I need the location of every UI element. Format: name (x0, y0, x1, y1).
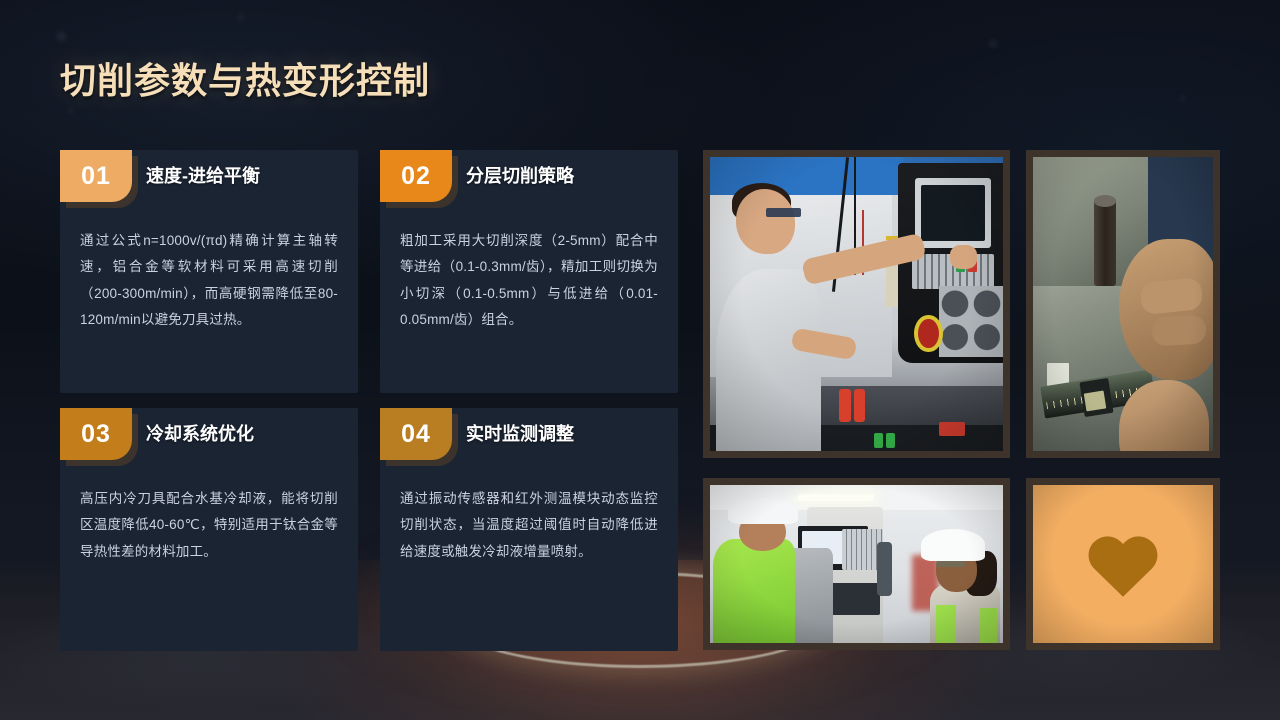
bokeh-particle (238, 14, 244, 20)
card-number-badge: 04 (380, 408, 452, 460)
card-title: 实时监测调整 (466, 420, 574, 446)
feature-card[interactable]: 02 分层切削策略 粗加工采用大切削深度（2-5mm）配合中等进给（0.1-0.… (380, 150, 678, 393)
card-badge-wrap: 03 冷却系统优化 (60, 408, 358, 460)
photo-frame[interactable] (703, 150, 1010, 458)
card-body-text: 通过振动传感器和红外测温模块动态监控切削状态，当温度超过阈值时自动降低进给速度或… (380, 460, 678, 565)
bokeh-particle (990, 40, 997, 47)
card-number-badge: 02 (380, 150, 452, 202)
bokeh-particle (68, 108, 73, 113)
feature-card[interactable]: 03 冷却系统优化 高压内冷刀具配合水基冷却液，能将切削区温度降低40-60℃，… (60, 408, 358, 651)
image-placeholder-heart (1033, 485, 1213, 643)
card-body-text: 高压内冷刀具配合水基冷却液，能将切削区温度降低40-60℃，特别适用于钛合金等导… (60, 460, 358, 565)
bokeh-particle (57, 32, 66, 41)
two-workers-cnc-machine-photo (710, 485, 1003, 643)
page-title: 切削参数与热变形控制 (60, 52, 430, 104)
card-body-text: 粗加工采用大切削深度（2-5mm）配合中等进给（0.1-0.3mm/齿），精加工… (380, 202, 678, 333)
feature-card-grid: 01 速度-进给平衡 通过公式n=1000v/(πd)精确计算主轴转速，铝合金等… (60, 150, 672, 650)
card-number-badge: 01 (60, 150, 132, 202)
feature-card[interactable]: 04 实时监测调整 通过振动传感器和红外测温模块动态监控切削状态，当温度超过阈值… (380, 408, 678, 651)
card-number-badge: 03 (60, 408, 132, 460)
cnc-operator-control-panel-photo (710, 157, 1003, 451)
card-title: 速度-进给平衡 (146, 162, 260, 188)
card-badge-wrap: 02 分层切削策略 (380, 150, 678, 202)
card-body-text: 通过公式n=1000v/(πd)精确计算主轴转速，铝合金等软材料可采用高速切削（… (60, 202, 358, 333)
photo-frame[interactable] (1026, 478, 1220, 650)
digital-caliper-measurement-photo (1033, 157, 1213, 451)
card-badge-wrap: 01 速度-进给平衡 (60, 150, 358, 202)
photo-frame[interactable] (703, 478, 1010, 650)
bokeh-particle (1180, 96, 1185, 101)
feature-card[interactable]: 01 速度-进给平衡 通过公式n=1000v/(πd)精确计算主轴转速，铝合金等… (60, 150, 358, 393)
heart-icon (1084, 529, 1162, 599)
card-title: 分层切削策略 (466, 162, 574, 188)
photo-frame[interactable] (1026, 150, 1220, 458)
card-badge-wrap: 04 实时监测调整 (380, 408, 678, 460)
card-title: 冷却系统优化 (146, 420, 254, 446)
slide-canvas: 切削参数与热变形控制 01 速度-进给平衡 通过公式n=1000v/(πd)精确… (0, 0, 1280, 720)
image-gallery (703, 150, 1220, 650)
